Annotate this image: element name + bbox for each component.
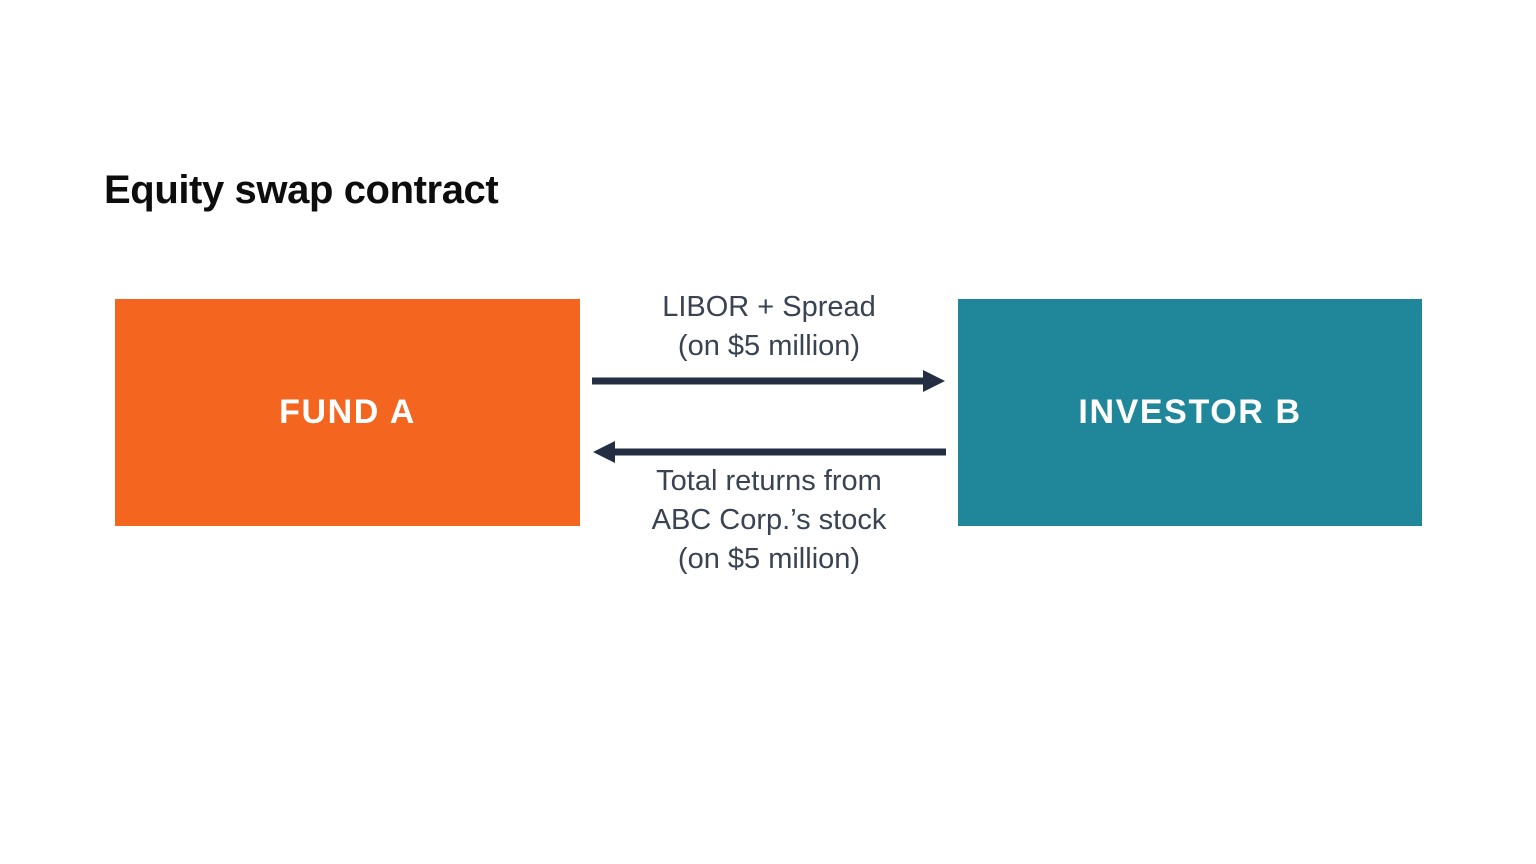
flow-area: LIBOR + Spread (on $5 million) Total ret… (580, 290, 958, 590)
flow-label-total-returns-line-3: (on $5 million) (559, 540, 979, 579)
arrow-left-total-returns (593, 441, 946, 463)
flow-label-total-returns-line-1: Total returns from (559, 462, 979, 501)
party-box-investor-b: INVESTOR B (958, 299, 1422, 526)
arrow-right-libor-spread (592, 370, 945, 392)
arrow-right-head (923, 370, 945, 392)
diagram-canvas: Equity swap contract FUND A INVESTOR B L… (0, 0, 1536, 864)
flow-label-total-returns-line-2: ABC Corp.’s stock (559, 501, 979, 540)
party-box-fund-a: FUND A (115, 299, 580, 526)
party-label-investor-b: INVESTOR B (1078, 393, 1301, 432)
flow-label-total-returns: Total returns from ABC Corp.’s stock (on… (559, 462, 979, 579)
arrow-left-head (593, 441, 615, 463)
party-label-fund-a: FUND A (279, 393, 416, 432)
page-title: Equity swap contract (104, 168, 498, 212)
